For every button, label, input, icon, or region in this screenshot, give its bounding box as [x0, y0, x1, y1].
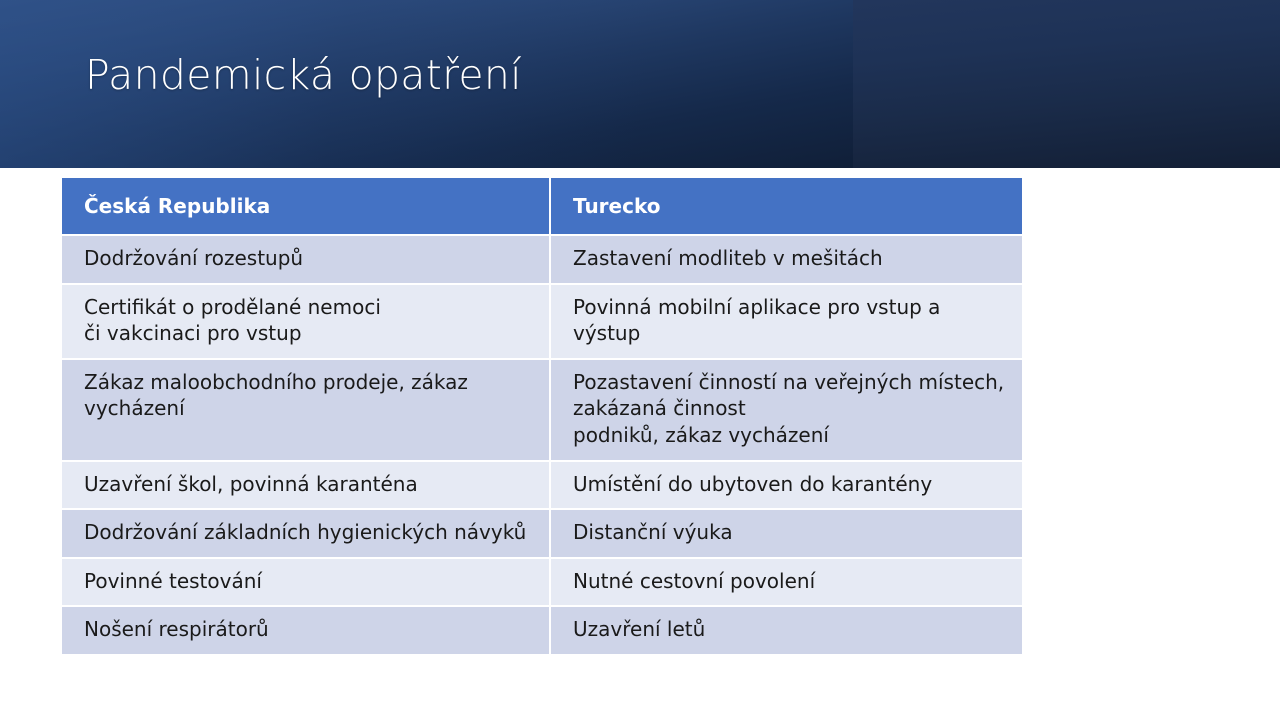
table-cell-czech-republic: Uzavření škol, povinná karanténa	[62, 461, 550, 510]
table-cell-czech-republic: Certifikát o prodělané nemociči vakcinac…	[62, 284, 550, 359]
table-row: Dodržování rozestupůZastavení modliteb v…	[62, 235, 1022, 284]
table-cell-czech-republic: Zákaz maloobchodního prodeje, zákaz vych…	[62, 359, 550, 461]
table-row: Zákaz maloobchodního prodeje, zákaz vych…	[62, 359, 1022, 461]
table-cell-turkey: Umístění do ubytoven do karantény	[550, 461, 1022, 510]
table-column-header-czech-republic: Česká Republika	[62, 178, 550, 235]
table-row: Certifikát o prodělané nemociči vakcinac…	[62, 284, 1022, 359]
comparison-table: Česká Republika Turecko Dodržování rozes…	[62, 178, 1022, 654]
page-title: Pandemická opatření	[85, 52, 825, 99]
table-cell-turkey: Zastavení modliteb v mešitách	[550, 235, 1022, 284]
table-column-header-turkey: Turecko	[550, 178, 1022, 235]
table-cell-czech-republic: Povinné testování	[62, 558, 550, 607]
table-row: Dodržování základních hygienických návyk…	[62, 509, 1022, 558]
slide-header-banner: Pandemická opatření	[0, 0, 1280, 168]
table-header: Česká Republika Turecko	[62, 178, 1022, 235]
table-body: Dodržování rozestupůZastavení modliteb v…	[62, 235, 1022, 654]
table-cell-turkey: Povinná mobilní aplikace pro vstup a výs…	[550, 284, 1022, 359]
table-row: Uzavření škol, povinná karanténaUmístění…	[62, 461, 1022, 510]
slide-canvas: Pandemická opatření Česká Republika Ture…	[0, 0, 1280, 720]
table-cell-turkey: Distanční výuka	[550, 509, 1022, 558]
table-row: Povinné testováníNutné cestovní povolení	[62, 558, 1022, 607]
table-cell-turkey: Uzavření letů	[550, 606, 1022, 654]
banner-right-panel	[853, 0, 1280, 168]
table-row: Nošení respirátorůUzavření letů	[62, 606, 1022, 654]
table-cell-turkey: Nutné cestovní povolení	[550, 558, 1022, 607]
table-header-row: Česká Republika Turecko	[62, 178, 1022, 235]
table-cell-turkey: Pozastavení činností na veřejných místec…	[550, 359, 1022, 461]
table-cell-czech-republic: Dodržování rozestupů	[62, 235, 550, 284]
table-cell-czech-republic: Nošení respirátorů	[62, 606, 550, 654]
table-cell-czech-republic: Dodržování základních hygienických návyk…	[62, 509, 550, 558]
